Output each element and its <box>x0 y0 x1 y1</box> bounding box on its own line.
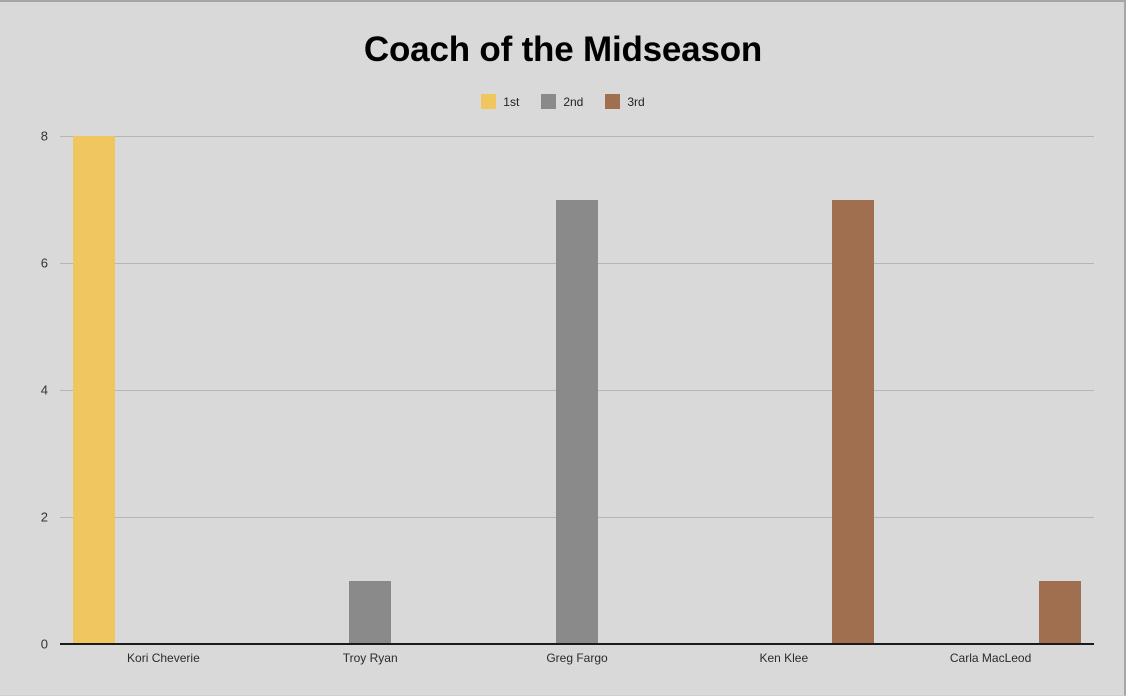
bar[interactable] <box>1039 581 1081 645</box>
bar[interactable] <box>73 136 115 644</box>
legend-swatch-3rd-icon <box>605 94 620 109</box>
y-axis-labels: 02468 <box>0 136 60 644</box>
y-tick-label: 6 <box>8 256 48 271</box>
chart-legend: 1st 2nd 3rd <box>0 94 1126 109</box>
bar[interactable] <box>556 200 598 645</box>
plot-area <box>60 136 1094 644</box>
legend-label-1st: 1st <box>503 96 519 108</box>
x-category-label: Greg Fargo <box>474 650 681 670</box>
y-tick-label: 0 <box>8 637 48 652</box>
x-category-label: Carla MacLeod <box>887 650 1094 670</box>
legend-label-2nd: 2nd <box>563 96 583 108</box>
x-axis-labels: Kori CheverieTroy RyanGreg FargoKen Klee… <box>60 650 1094 670</box>
x-category-label: Troy Ryan <box>267 650 474 670</box>
legend-swatch-2nd-icon <box>541 94 556 109</box>
y-tick-label: 2 <box>8 510 48 525</box>
x-category-label: Ken Klee <box>680 650 887 670</box>
chart-title: Coach of the Midseason <box>0 30 1126 70</box>
bar[interactable] <box>832 200 874 645</box>
bar-chart: Coach of the Midseason 1st 2nd 3rd 02468… <box>0 2 1124 695</box>
legend-item-2nd[interactable]: 2nd <box>541 94 583 109</box>
legend-item-3rd[interactable]: 3rd <box>605 94 644 109</box>
gridline <box>60 136 1094 137</box>
x-axis-line <box>60 643 1094 645</box>
y-tick-label: 8 <box>8 129 48 144</box>
legend-swatch-1st-icon <box>481 94 496 109</box>
y-tick-label: 4 <box>8 383 48 398</box>
legend-item-1st[interactable]: 1st <box>481 94 519 109</box>
legend-label-3rd: 3rd <box>627 96 644 108</box>
bar[interactable] <box>349 581 391 645</box>
x-category-label: Kori Cheverie <box>60 650 267 670</box>
